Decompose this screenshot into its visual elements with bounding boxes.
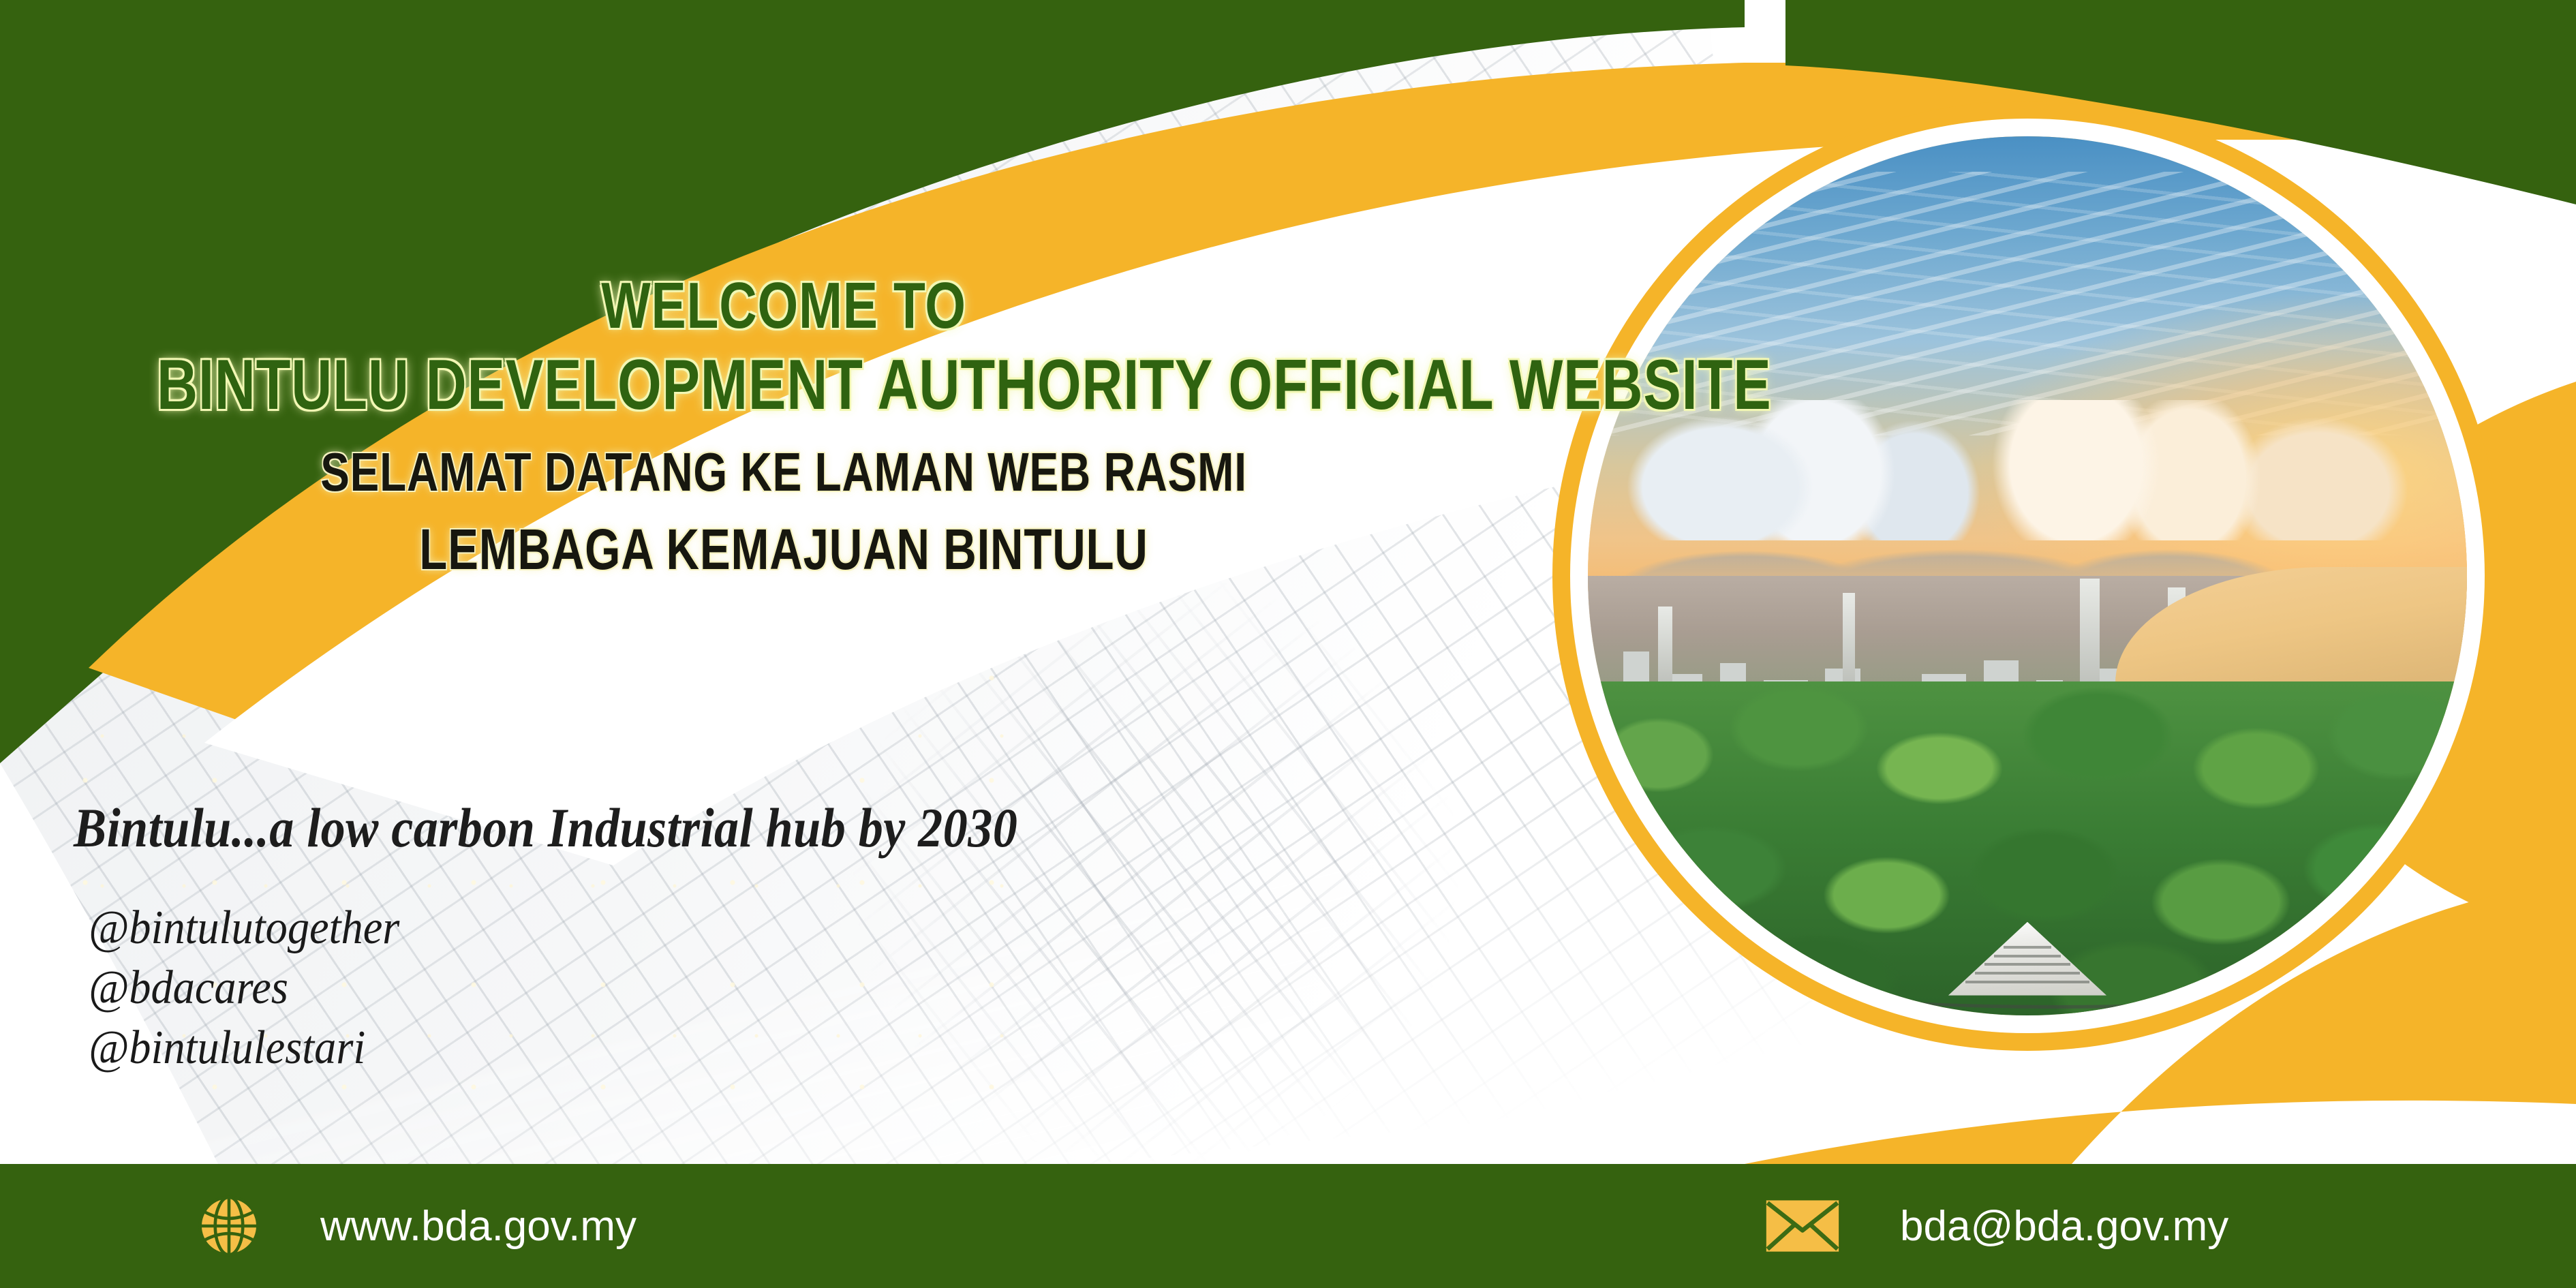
social-handle-bintululestari[interactable]: @bintululestari (89, 1018, 399, 1078)
social-handle-bintulutogether[interactable]: @bintulutogether (89, 898, 399, 958)
bda-welcome-banner: WELCOME TO BINTULU DEVELOPMENT AUTHORITY… (0, 0, 2576, 1288)
photo-content (1588, 136, 2467, 1015)
social-handles-list: @bintulutogether @bdacares @bintululesta… (89, 898, 427, 1079)
footer-website-item[interactable]: www.bda.gov.my (198, 1195, 637, 1257)
headline-authority-website: BINTULU DEVELOPMENT AUTHORITY OFFICIAL W… (157, 349, 1411, 421)
footer-website-label: www.bda.gov.my (320, 1202, 637, 1251)
footer-email-label: bda@bda.gov.my (1900, 1202, 2228, 1251)
footer-email-item[interactable]: bda@bda.gov.my (1765, 1199, 2228, 1253)
envelope-icon (1765, 1199, 1840, 1253)
headline-welcome: WELCOME TO (157, 273, 1411, 339)
bintulu-aerial-photo (1588, 136, 2467, 1015)
headline-lembaga-kemajuan: LEMBAGA KEMAJUAN BINTULU (157, 521, 1411, 579)
social-handle-bdacares[interactable]: @bdacares (89, 958, 399, 1018)
tagline: Bintulu...a low carbon Industrial hub by… (74, 796, 1017, 860)
headline-selamat-datang: SELAMAT DATANG KE LAMAN WEB RASMI (157, 444, 1411, 500)
photo-conical-landmark (1948, 922, 2106, 996)
photo-rainforest (1588, 681, 2467, 1015)
headline-block: WELCOME TO BINTULU DEVELOPMENT AUTHORITY… (0, 273, 1567, 579)
footer-bar: www.bda.gov.my bda@bda.gov.my (0, 1164, 2576, 1288)
globe-icon (198, 1195, 260, 1257)
